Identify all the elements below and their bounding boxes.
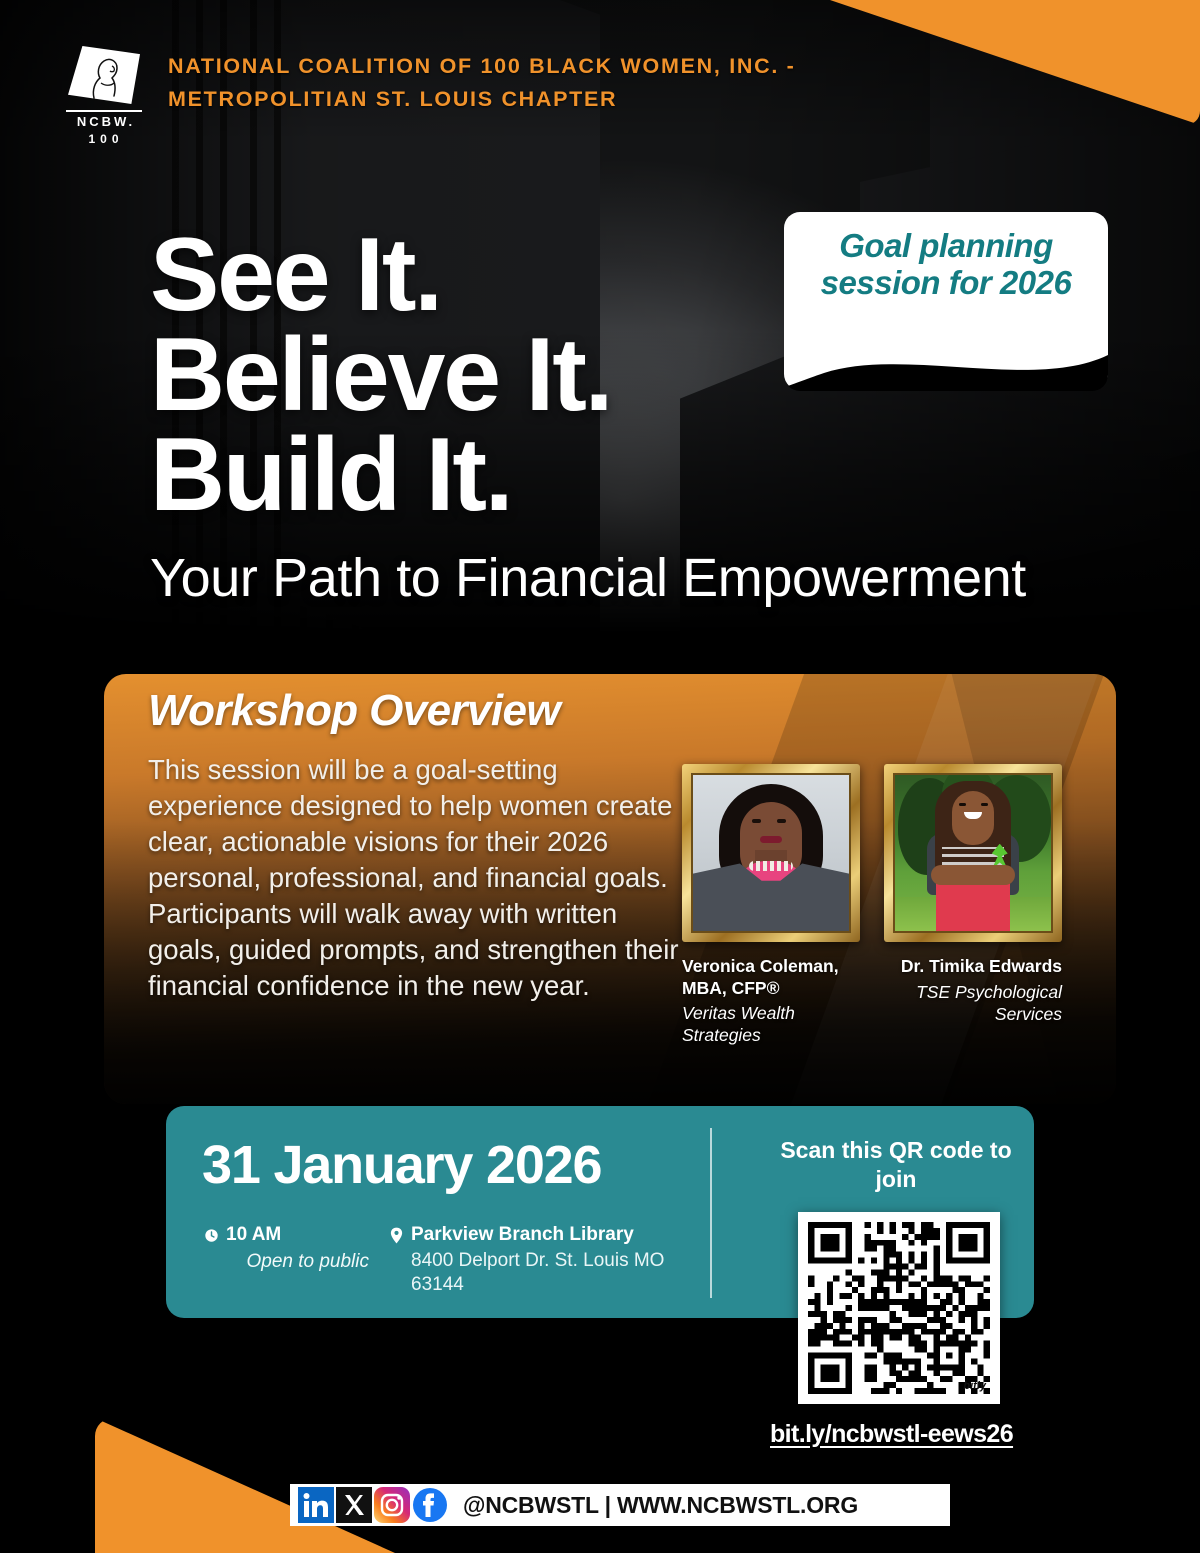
event-time-block: 10 AM Open to public [204, 1224, 369, 1298]
social-handle-text: @NCBWSTL | WWW.NCBWSTL.ORG [463, 1492, 858, 1519]
social-footer-bar: @NCBWSTL | WWW.NCBWSTL.ORG [290, 1484, 950, 1526]
headline-line-3: Build It. [150, 426, 1026, 526]
headshot-veronica-coleman [691, 773, 851, 933]
event-time-note: Open to public [204, 1250, 369, 1274]
event-location-block: Parkview Branch Library 8400 Delport Dr.… [389, 1224, 704, 1298]
qr-block: bitly bit.ly/ncbwstl-eews26 [798, 1212, 1000, 1449]
org-title-line-2: METROPOLITIAN ST. LOUIS CHAPTER [168, 83, 796, 116]
clock-icon [204, 1227, 219, 1244]
org-title-line-1: NATIONAL COALITION OF 100 BLACK WOMEN, I… [168, 50, 796, 83]
qr-short-link[interactable]: bit.ly/ncbwstl-eews26 [770, 1420, 1000, 1449]
panel-divider [710, 1128, 712, 1298]
speaker-photo-frame [682, 764, 860, 942]
bubble-text: Goal planning session for 2026 [784, 212, 1108, 302]
event-address: 8400 Delport Dr. St. Louis MO 63144 [411, 1249, 704, 1298]
goal-planning-callout-bubble: Goal planning session for 2026 [784, 212, 1108, 390]
instagram-icon[interactable] [374, 1487, 410, 1523]
logo-text-ncbw: NCBW. [62, 114, 150, 129]
speaker-card: Veronica Coleman, MBA, CFP® Veritas Weal… [682, 764, 860, 1046]
speaker-name: Veronica Coleman, MBA, CFP® [682, 956, 860, 999]
hero-subtitle: Your Path to Financial Empowerment [150, 547, 1026, 609]
speaker-photo-frame [884, 764, 1062, 942]
event-meta: 10 AM Open to public Parkview Branch Lib… [204, 1224, 704, 1298]
headshot-timika-edwards [893, 773, 1053, 933]
event-time: 10 AM [226, 1224, 281, 1247]
speaker-name: Dr. Timika Edwards [884, 956, 1062, 978]
qr-code[interactable]: bitly [798, 1212, 1000, 1404]
qr-watermark: bitly [963, 1380, 986, 1392]
event-poster: NCBW. 100 NATIONAL COALITION OF 100 BLAC… [0, 0, 1200, 1553]
bubble-wave-tail [784, 347, 1108, 391]
speaker-organization: Veritas Wealth Strategies [682, 1002, 860, 1046]
logo-divider-rule [66, 110, 142, 112]
speaker-card: Dr. Timika Edwards TSE Psychological Ser… [884, 764, 1062, 1046]
organization-title: NATIONAL COALITION OF 100 BLACK WOMEN, I… [168, 50, 796, 115]
event-venue: Parkview Branch Library [411, 1224, 634, 1247]
facebook-icon[interactable] [412, 1487, 448, 1523]
logo-text-100: 100 [62, 132, 150, 146]
linkedin-icon[interactable] [298, 1487, 334, 1523]
qr-heading: Scan this QR code to join [776, 1136, 1016, 1194]
poster-header: NCBW. 100 NATIONAL COALITION OF 100 BLAC… [62, 44, 796, 144]
workshop-title: Workshop Overview [148, 686, 560, 736]
x-twitter-icon[interactable] [336, 1487, 372, 1523]
ncbw-logo: NCBW. 100 [62, 44, 150, 144]
workshop-description: This session will be a goal-setting expe… [148, 752, 688, 1004]
logo-woman-profile-icon [88, 52, 122, 100]
map-pin-icon [389, 1227, 404, 1244]
speaker-list: Veronica Coleman, MBA, CFP® Veritas Weal… [682, 764, 1102, 1046]
event-date: 31 January 2026 [202, 1134, 601, 1196]
speaker-organization: TSE Psychological Services [884, 981, 1062, 1025]
